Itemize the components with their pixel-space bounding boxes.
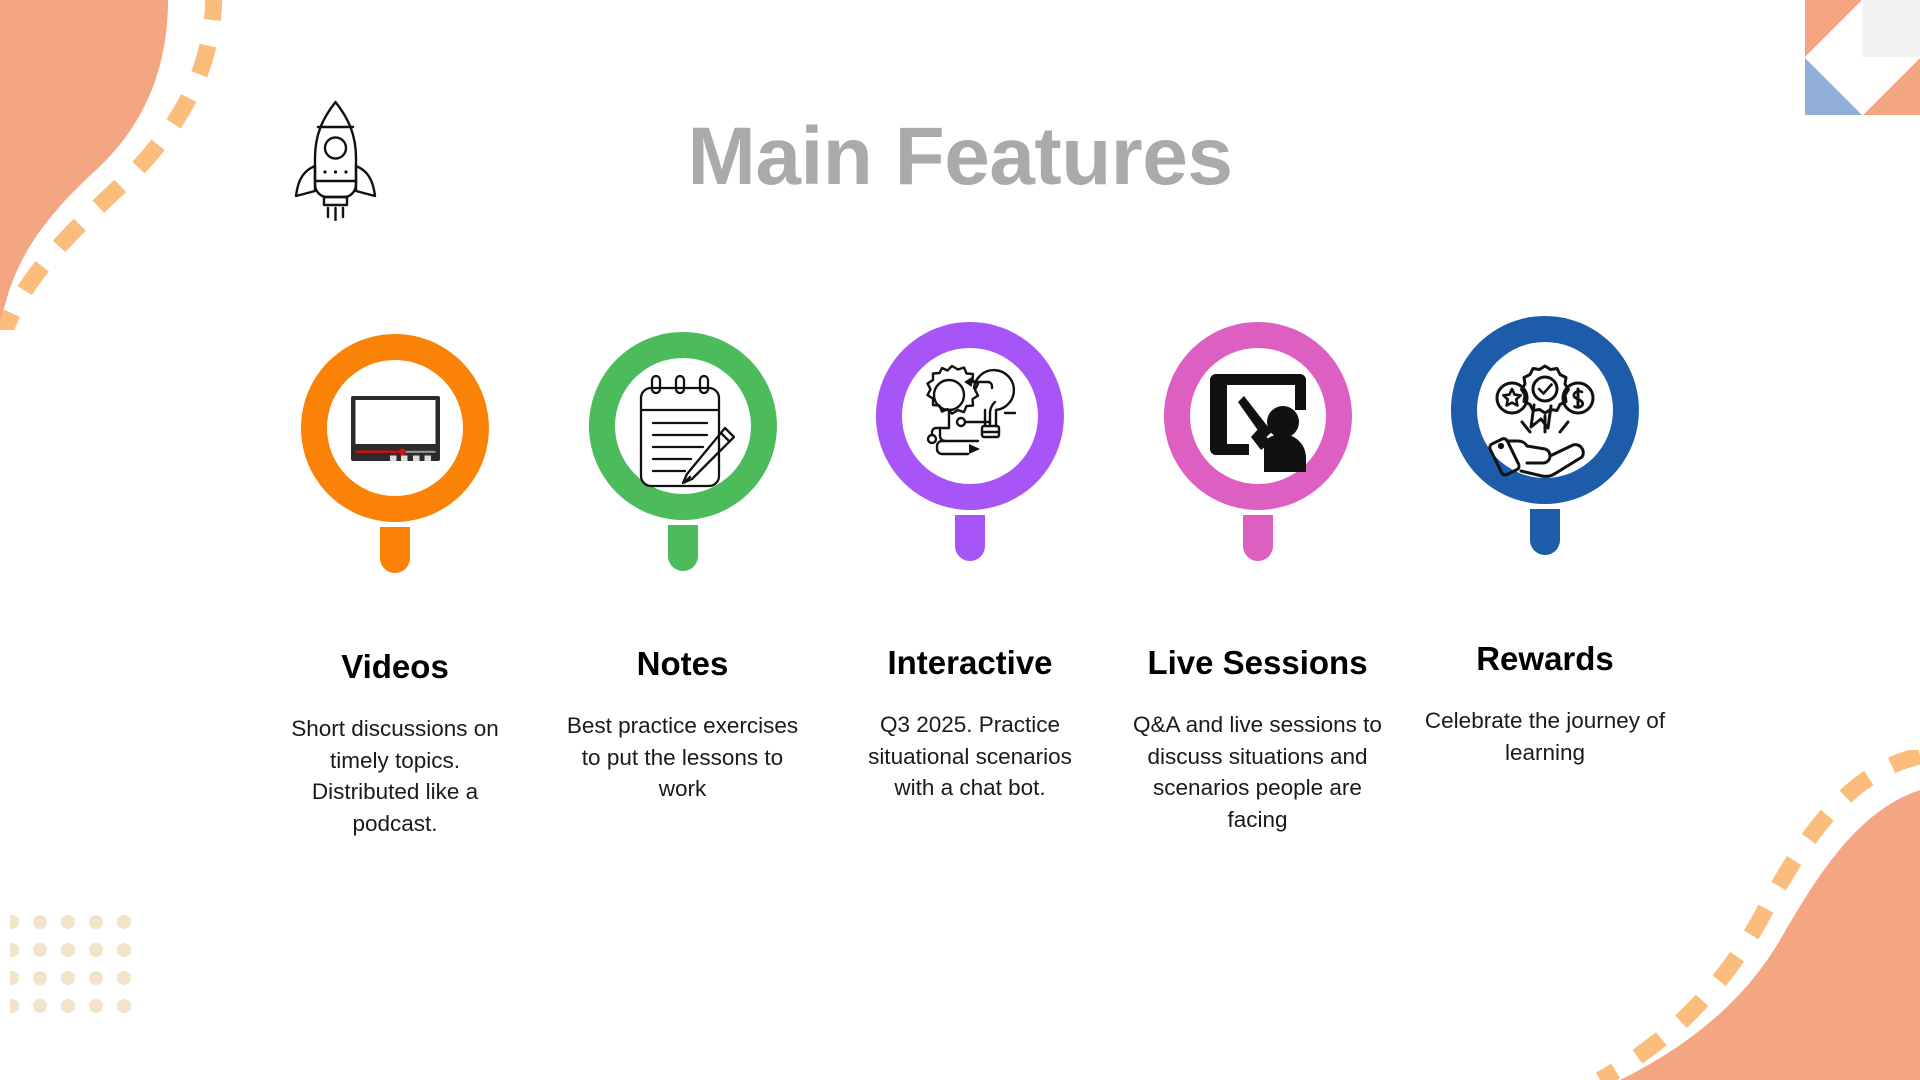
notepad-pencil-icon [588, 332, 776, 571]
feature-card-live-sessions[interactable]: Live Sessions Q&A and live sessions to d… [1133, 300, 1383, 836]
feature-pin-notes [558, 320, 808, 615]
feature-description: Q&A and live sessions to discuss situati… [1133, 709, 1383, 837]
feature-description: Short discussions on timely topics. Dist… [278, 713, 513, 841]
feature-card-interactive[interactable]: Interactive Q3 2025. Practice situationa… [845, 300, 1095, 804]
video-player-icon [301, 334, 489, 573]
page-title: Main Features [0, 112, 1920, 202]
feature-title: Notes [637, 644, 729, 684]
feature-pin-videos [270, 322, 520, 617]
feature-title: Interactive [887, 643, 1052, 683]
feature-pin-rewards [1420, 304, 1670, 599]
gear-lightbulb-circuit-icon [876, 322, 1064, 561]
feature-title: Rewards [1476, 639, 1614, 679]
hand-rewards-icon [1451, 316, 1639, 555]
feature-title: Videos [341, 647, 449, 687]
feature-pin-interactive [845, 310, 1095, 605]
slide-canvas: Main Features [0, 0, 1920, 1080]
feature-card-notes[interactable]: Notes Best practice exercises to put the… [558, 300, 808, 805]
bottom-left-dots-decoration [10, 910, 150, 1020]
feature-description: Celebrate the journey of learning [1420, 705, 1670, 769]
feature-description: Best practice exercises to put the lesso… [565, 710, 800, 806]
feature-pin-live-sessions [1133, 310, 1383, 605]
presenter-whiteboard-icon [1163, 322, 1351, 561]
features-row: Videos Short discussions on timely topic… [270, 300, 1670, 840]
top-right-triangles-decoration [1805, 0, 1920, 115]
feature-card-videos[interactable]: Videos Short discussions on timely topic… [270, 300, 520, 840]
feature-title: Live Sessions [1147, 643, 1367, 683]
feature-description: Q3 2025. Practice situational scenarios … [853, 709, 1088, 805]
feature-card-rewards[interactable]: Rewards Celebrate the journey of learnin… [1420, 300, 1670, 768]
